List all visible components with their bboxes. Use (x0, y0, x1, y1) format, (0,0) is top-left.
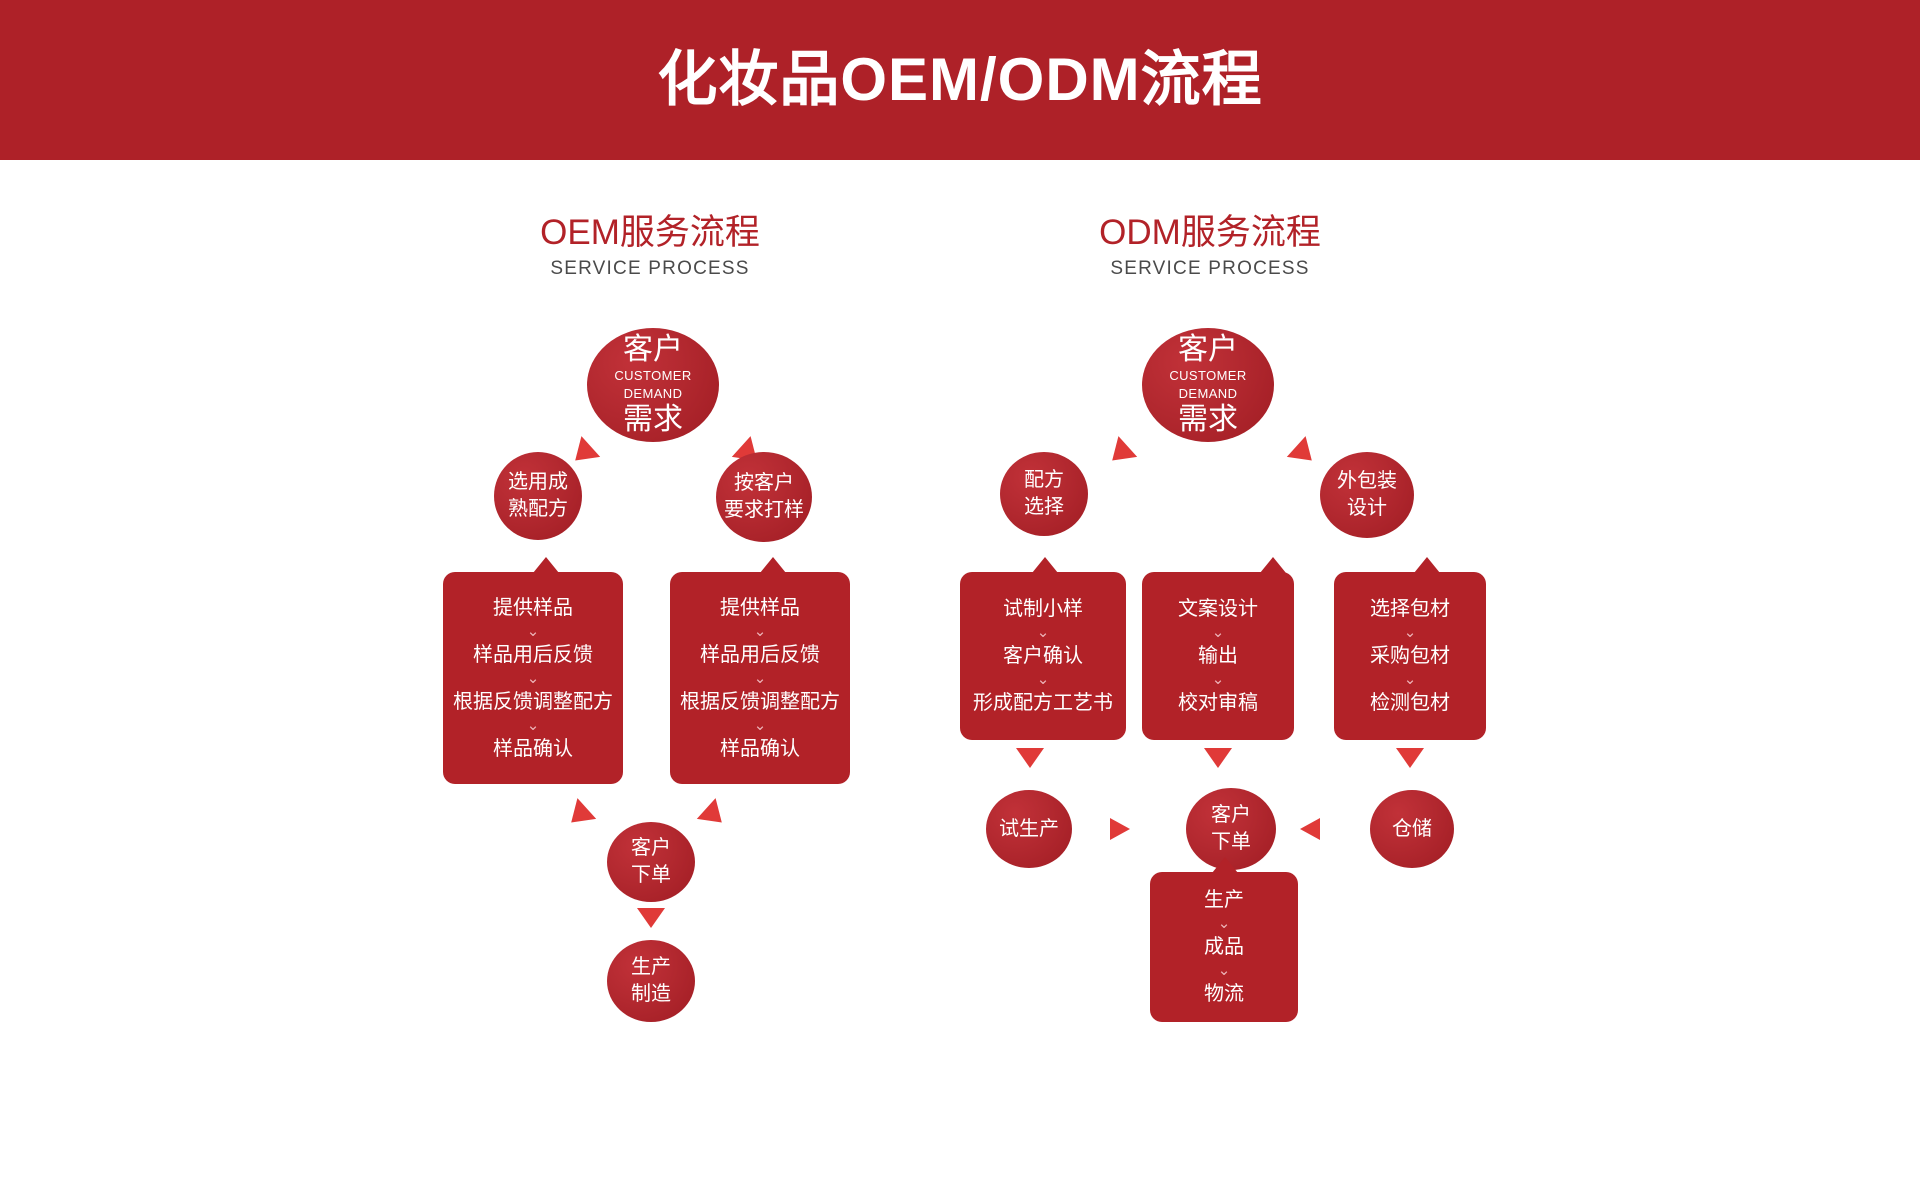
odm-root-line3: 需求 (1178, 403, 1238, 437)
process-diagram-page: 化妆品OEM/ODM流程 OEM服务流程 SERVICE PROCESS ODM… (0, 0, 1920, 1177)
oem-arrow-left-box-to-order (562, 798, 596, 833)
oem-box-left-step-4: 样品确认 (493, 734, 573, 764)
odm-title-en: SERVICE PROCESS (1000, 254, 1420, 284)
oem-box-left-sep-2: ⌄ (527, 670, 540, 687)
odm-arrow-trial-to-order (1110, 818, 1130, 840)
oem-section-heading: OEM服务流程 SERVICE PROCESS (440, 212, 860, 284)
oem-final-line2: 制造 (631, 981, 671, 1008)
odm-box-bottom-sep-2: ⌄ (1218, 962, 1231, 979)
odm-box-center-step-3: 校对审稿 (1178, 688, 1258, 718)
odm-box-left-sep-1: ⌄ (1037, 624, 1050, 641)
odm-arrow-right-box-to-storage (1396, 748, 1424, 768)
oem-node-custom-sample[interactable]: 按客户 要求打样 (716, 452, 812, 542)
oem-branch-right-line2: 要求打样 (724, 497, 804, 524)
odm-box-right-notch (1414, 557, 1440, 573)
odm-node-trial-production[interactable]: 试生产 (986, 790, 1072, 868)
oem-box-left[interactable]: 提供样品 ⌄ 样品用后反馈 ⌄ 根据反馈调整配方 ⌄ 样品确认 (443, 572, 623, 784)
oem-box-left-sep-3: ⌄ (527, 717, 540, 734)
odm-box-left-step-3: 形成配方工艺书 (973, 688, 1113, 718)
odm-box-center-step-2: 输出 (1198, 641, 1238, 671)
odm-branch-right-line1: 外包装 (1337, 468, 1397, 495)
oem-box-right-step-4: 样品确认 (720, 734, 800, 764)
oem-node-mature-formula[interactable]: 选用成 熟配方 (494, 452, 582, 540)
odm-title-cn: ODM服务流程 (1000, 212, 1420, 254)
odm-box-right-sep-2: ⌄ (1404, 671, 1417, 688)
oem-final-line1: 生产 (631, 954, 671, 981)
odm-box-left-step-2: 客户确认 (1003, 641, 1083, 671)
odm-node-formula-selection[interactable]: 配方 选择 (1000, 452, 1088, 536)
odm-node-package-design[interactable]: 外包装 设计 (1320, 452, 1414, 538)
odm-box-bottom-step-2: 成品 (1204, 932, 1244, 962)
odm-root-line1: 客户 (1178, 333, 1238, 367)
oem-root-line3: 需求 (623, 403, 683, 437)
odm-arrow-root-to-left (1103, 436, 1137, 471)
odm-order-line1: 客户 (1211, 802, 1251, 829)
odm-box-left-step-1: 试制小样 (1003, 594, 1083, 624)
oem-box-right-sep-2: ⌄ (754, 670, 767, 687)
odm-node-storage[interactable]: 仓储 (1370, 790, 1454, 868)
odm-arrow-center-box-to-order (1204, 748, 1232, 768)
odm-box-center-step-1: 文案设计 (1178, 594, 1258, 624)
odm-branch-right-line2: 设计 (1347, 495, 1387, 522)
odm-box-right[interactable]: 选择包材 ⌄ 采购包材 ⌄ 检测包材 (1334, 572, 1486, 740)
odm-box-bottom-step-3: 物流 (1204, 979, 1244, 1009)
odm-arrow-root-to-right (1287, 436, 1321, 471)
odm-box-bottom-notch (1212, 857, 1238, 873)
odm-arrow-storage-to-order (1300, 818, 1320, 840)
oem-box-left-step-1: 提供样品 (493, 593, 573, 623)
oem-box-right[interactable]: 提供样品 ⌄ 样品用后反馈 ⌄ 根据反馈调整配方 ⌄ 样品确认 (670, 572, 850, 784)
oem-box-left-notch (533, 557, 559, 573)
odm-arrow-left-box-to-trial (1016, 748, 1044, 768)
oem-node-place-order[interactable]: 客户 下单 (607, 822, 695, 902)
oem-box-right-step-2: 样品用后反馈 (700, 640, 820, 670)
oem-box-right-notch (760, 557, 786, 573)
odm-trial-line1: 试生产 (999, 816, 1059, 843)
oem-order-line2: 下单 (631, 862, 671, 889)
oem-box-right-sep-3: ⌄ (754, 717, 767, 734)
odm-box-left-sep-2: ⌄ (1037, 671, 1050, 688)
oem-root-line2: CUSTOMER DEMAND (587, 367, 719, 403)
oem-node-production[interactable]: 生产 制造 (607, 940, 695, 1022)
odm-box-center-sep-2: ⌄ (1212, 671, 1225, 688)
page-header-band: 化妆品OEM/ODM流程 (0, 0, 1920, 160)
oem-box-right-sep-1: ⌄ (754, 623, 767, 640)
odm-branch-left-line1: 配方 (1024, 467, 1064, 494)
odm-branch-left-line2: 选择 (1024, 494, 1064, 521)
odm-box-right-step-3: 检测包材 (1370, 688, 1450, 718)
oem-arrow-order-to-production (637, 908, 665, 928)
odm-box-center[interactable]: 文案设计 ⌄ 输出 ⌄ 校对审稿 (1142, 572, 1294, 740)
oem-branch-left-line1: 选用成 (508, 469, 568, 496)
oem-title-en: SERVICE PROCESS (440, 254, 860, 284)
odm-box-bottom[interactable]: 生产 ⌄ 成品 ⌄ 物流 (1150, 872, 1298, 1022)
oem-box-left-step-3: 根据反馈调整配方 (453, 687, 613, 717)
oem-box-right-step-3: 根据反馈调整配方 (680, 687, 840, 717)
odm-box-center-sep-1: ⌄ (1212, 624, 1225, 641)
oem-branch-left-line2: 熟配方 (508, 496, 568, 523)
odm-node-customer-demand[interactable]: 客户 CUSTOMER DEMAND 需求 (1142, 328, 1274, 442)
oem-root-line1: 客户 (623, 333, 683, 367)
oem-node-customer-demand[interactable]: 客户 CUSTOMER DEMAND 需求 (587, 328, 719, 442)
page-title: 化妆品OEM/ODM流程 (657, 50, 1262, 110)
oem-title-cn: OEM服务流程 (440, 212, 860, 254)
odm-root-line2: CUSTOMER DEMAND (1142, 367, 1274, 403)
oem-box-right-step-1: 提供样品 (720, 593, 800, 623)
oem-branch-right-line1: 按客户 (734, 470, 794, 497)
oem-box-left-step-2: 样品用后反馈 (473, 640, 593, 670)
odm-box-center-notch (1260, 557, 1286, 573)
odm-section-heading: ODM服务流程 SERVICE PROCESS (1000, 212, 1420, 284)
odm-box-right-step-2: 采购包材 (1370, 641, 1450, 671)
odm-box-left-notch (1032, 557, 1058, 573)
odm-order-line2: 下单 (1211, 829, 1251, 856)
oem-order-line1: 客户 (631, 835, 671, 862)
oem-arrow-right-box-to-order (697, 798, 731, 833)
oem-box-left-sep-1: ⌄ (527, 623, 540, 640)
odm-box-bottom-sep-1: ⌄ (1218, 915, 1231, 932)
oem-arrow-root-to-left (566, 436, 600, 471)
odm-box-right-sep-1: ⌄ (1404, 624, 1417, 641)
odm-box-right-step-1: 选择包材 (1370, 594, 1450, 624)
odm-box-bottom-step-1: 生产 (1204, 885, 1244, 915)
odm-storage-line1: 仓储 (1392, 816, 1432, 843)
odm-box-left[interactable]: 试制小样 ⌄ 客户确认 ⌄ 形成配方工艺书 (960, 572, 1126, 740)
